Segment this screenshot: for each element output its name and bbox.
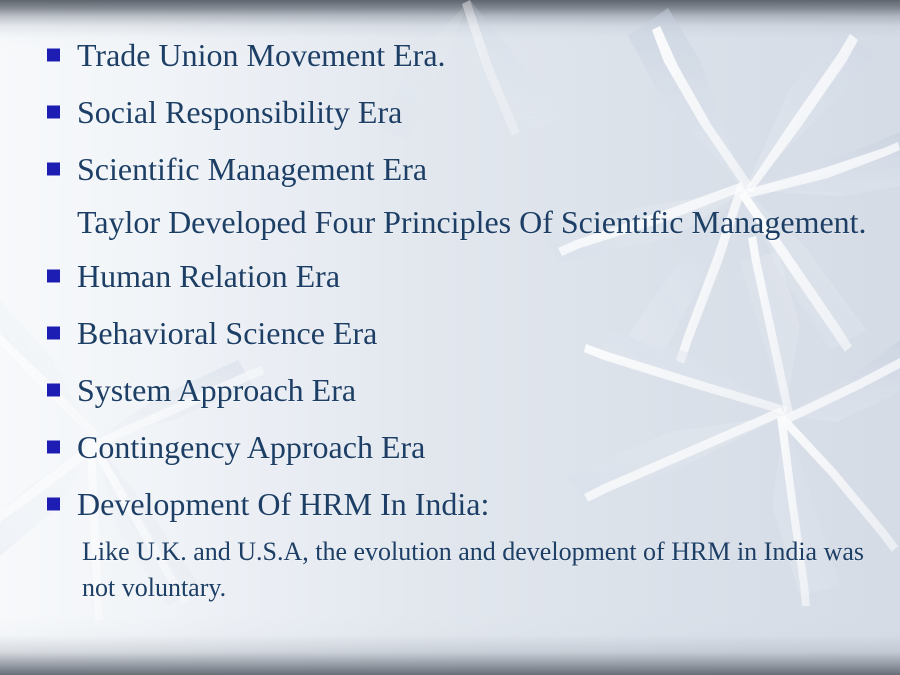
list-item: Scientific Management Era <box>22 140 882 197</box>
square-bullet-icon <box>47 269 60 282</box>
list-item-label: Scientific Management Era <box>77 153 427 185</box>
square-bullet-icon <box>47 48 60 61</box>
list-item: Behavioral Science Era <box>22 304 882 361</box>
list-item-label: Behavioral Science Era <box>77 317 377 349</box>
slide-content-body: Trade Union Movement Era. Social Respons… <box>0 0 900 675</box>
presentation-slide: Trade Union Movement Era. Social Respons… <box>0 0 900 675</box>
list-item: Contingency Approach Era <box>22 418 882 475</box>
square-bullet-icon <box>47 440 60 453</box>
list-item-label: Human Relation Era <box>77 260 340 292</box>
square-bullet-icon <box>47 497 60 510</box>
list-item-label: Social Responsibility Era <box>77 96 402 128</box>
square-bullet-icon <box>47 162 60 175</box>
india-hrm-note: Like U.K. and U.S.A, the evolution and d… <box>22 534 892 606</box>
scientific-management-note: Taylor Developed Four Principles Of Scie… <box>22 197 882 247</box>
square-bullet-icon <box>47 326 60 339</box>
list-item: Human Relation Era <box>22 247 882 304</box>
list-item-label: Trade Union Movement Era. <box>77 39 446 71</box>
list-item: Social Responsibility Era <box>22 83 882 140</box>
square-bullet-icon <box>47 105 60 118</box>
list-item-label: Contingency Approach Era <box>77 431 425 463</box>
list-item: Trade Union Movement Era. <box>22 26 882 83</box>
list-item: System Approach Era <box>22 361 882 418</box>
list-item-label: System Approach Era <box>77 374 356 406</box>
list-item: Development Of HRM In India: <box>22 475 882 532</box>
square-bullet-icon <box>47 383 60 396</box>
list-item-label: Development Of HRM In India: <box>77 488 489 520</box>
